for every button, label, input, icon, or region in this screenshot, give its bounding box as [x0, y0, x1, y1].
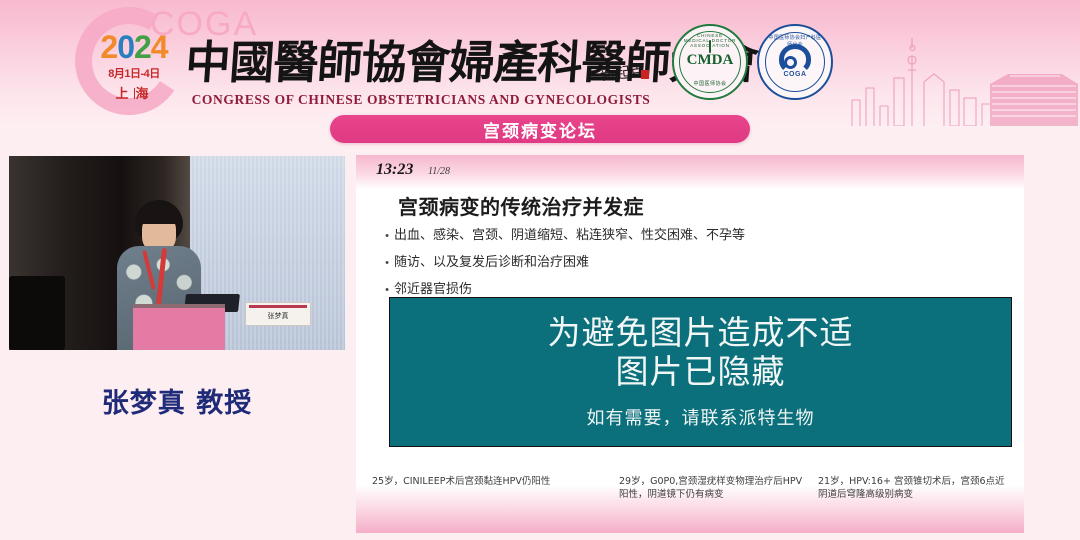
event-year: 2024: [85, 31, 183, 63]
event-date-block: 2024 8月1日-4日 上海: [85, 31, 183, 102]
hidden-image-line2: 图片已隐藏: [616, 353, 786, 392]
cmda-acronym: CMDA: [672, 52, 748, 69]
list-item: • 出血、感染、宫颈、阴道缩短、粘连狭窄、性交困难、不孕等: [380, 227, 900, 245]
slide-bullet-list: • 出血、感染、宫颈、阴道缩短、粘连狭窄、性交困难、不孕等 • 随访、以及复发后…: [380, 227, 900, 308]
cmda-logo: CHINESE MEDICAL DOCTOR ASSOCIATION CMDA …: [672, 24, 748, 100]
podium: [133, 308, 225, 350]
coga-logo-acronym: COGA: [757, 71, 833, 78]
hidden-image-line1: 为避免图片造成不适: [548, 314, 854, 353]
speaker-video-player[interactable]: 张梦真: [9, 156, 345, 350]
presentation-slide[interactable]: 13:23 11/28 宫颈病变的传统治疗并发症 • 出血、感染、宫颈、阴道缩短…: [356, 155, 1024, 533]
slide-title: 宫颈病变的传统治疗并发症: [398, 191, 644, 220]
podium-nameplate: 张梦真: [245, 302, 311, 326]
forum-title-banner: 宫颈病变论坛: [330, 115, 750, 143]
bullet-dot-icon: •: [380, 227, 394, 245]
shanghai-skyline-icon: [840, 30, 1080, 126]
event-title-english: CONGRESS OF CHINESE OBSTETRICIANS AND GY…: [186, 92, 656, 108]
coga-logo: 中国医师协会妇产科医师分会 COGA: [757, 24, 833, 100]
event-dates: 8月1日-4日: [85, 65, 183, 81]
cmda-subtext: 中国医师协会: [672, 80, 748, 87]
case-caption: 29岁，G0P0,宫颈湿疣样变物理治疗后HPV阳性，阴道镜下仍有病变: [619, 475, 809, 501]
event-header-banner: COGA 2024 8月1日-4日 上海 中國醫師協會婦產科醫師大會 新起点 C…: [0, 0, 1080, 126]
bullet-text: 随访、以及复发后诊断和治疗困难: [394, 254, 589, 272]
hidden-image-notice: 为避免图片造成不适 图片已隐藏 如有需要，请联系派特生物: [389, 297, 1012, 447]
nameplate-accent: [249, 305, 307, 308]
red-seal-icon: [641, 70, 649, 79]
speaker-name-label: 张梦真 教授: [9, 381, 345, 420]
event-city: 上海: [85, 83, 183, 102]
slide-page-indicator: 11/28: [428, 166, 450, 177]
hidden-image-line3: 如有需要，请联系派特生物: [587, 404, 815, 430]
bullet-dot-icon: •: [380, 254, 394, 272]
slide-case-captions: 25岁，CINILEEP术后宫颈黏连HPV仍阳性 29岁，G0P0,宫颈湿疣样变…: [356, 471, 1024, 515]
slide-top-decoration: [356, 155, 1024, 189]
list-item: • 随访、以及复发后诊断和治疗困难: [380, 254, 900, 272]
case-caption: 25岁，CINILEEP术后宫颈黏连HPV仍阳性: [372, 475, 582, 488]
nameplate-text: 张梦真: [246, 311, 310, 321]
slide-timestamp: 13:23: [376, 161, 413, 179]
coga-circle-icon: [784, 56, 797, 69]
bullet-text: 出血、感染、宫颈、阴道缩短、粘连狭窄、性交困难、不孕等: [394, 227, 745, 245]
presentation-broadcast-page: COGA 2024 8月1日-4日 上海 中國醫師協會婦產科醫師大會 新起点 C…: [0, 0, 1080, 540]
event-title-chinese: 中國醫師協會婦產科醫師大會: [184, 26, 648, 88]
video-foreground-desk: [9, 276, 65, 350]
speaker-fringe: [137, 208, 181, 224]
case-caption: 21岁，HPV:16+ 宫颈锥切术后，宫颈6点近阴道后穹隆高级别病变: [818, 475, 1008, 501]
